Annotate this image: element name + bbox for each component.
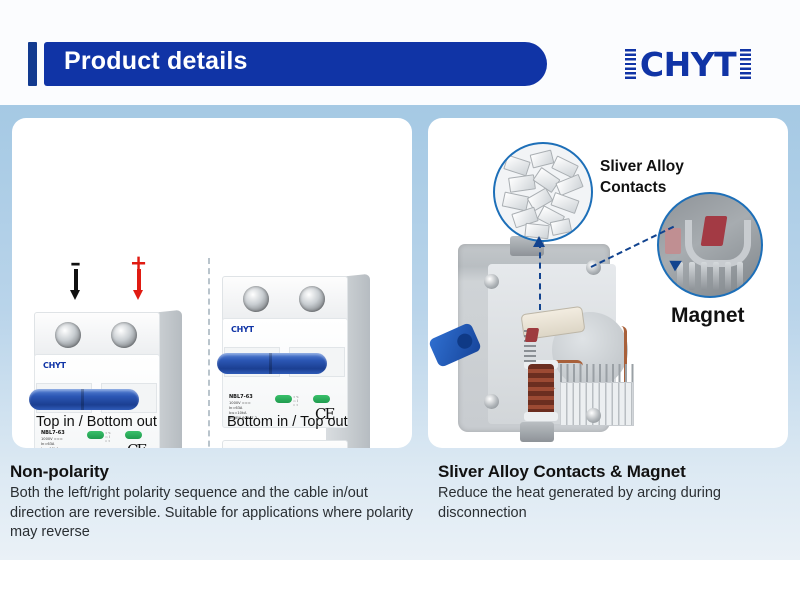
contacts-magnet-panel: Sliver Alloy Contacts Magnet (428, 118, 788, 448)
breaker-schematic-icon: ⌁ ∿⎓ ⌇○ ⌁ (105, 431, 111, 443)
terminal-hole (243, 286, 269, 312)
page-footer-space (0, 560, 800, 591)
breaker-internal-mechanism-image (440, 238, 630, 438)
magnet-label: Magnet (671, 304, 745, 328)
logo-stripe-right-icon (740, 49, 751, 79)
product-details-page: Product details CHYT – + (0, 0, 800, 591)
breaker-toggle-lever[interactable] (29, 389, 139, 410)
breaker-top-terminal (222, 276, 348, 322)
down-arrow-red-icon (133, 269, 144, 299)
brand-logo: CHYT (598, 44, 778, 84)
plus-sign-label: + (130, 258, 148, 269)
leader-line-contacts (539, 242, 541, 310)
non-polarity-caption: Non-polarity Both the left/right polarit… (10, 462, 420, 543)
contacts-magnet-caption-body: Reduce the heat generated by arcing duri… (438, 484, 788, 523)
terminal-hole (55, 322, 81, 348)
breaker-brand-label: CHYT (43, 361, 66, 370)
breaker-indicator-led (313, 395, 330, 403)
contact-pad (525, 328, 539, 342)
contacts-magnet-caption: Sliver Alloy Contacts & Magnet Reduce th… (438, 462, 788, 523)
panel-divider (208, 258, 210, 448)
silver-alloy-contacts-closeup (493, 142, 593, 242)
contacts-label-line-1: Sliver Alloy (600, 156, 684, 177)
down-arrow-black-icon (70, 269, 81, 299)
logo-text: CHYT (640, 48, 736, 81)
non-polarity-panel: – + CHYT (12, 118, 412, 448)
breaker-1-left-polarity: – (44, 258, 107, 299)
leader-arrow-contacts-icon (533, 236, 545, 247)
breaker-indicator-led (87, 431, 104, 439)
breaker-spec-text: 1000V === In=63A Icu=10kA IEC/EN 60947-2 (41, 437, 69, 448)
contacts-label-line-2: Contacts (600, 177, 684, 198)
breaker-indicator-led (125, 431, 142, 439)
breaker-bottom-terminal (222, 440, 348, 448)
breaker-top-terminal (34, 312, 160, 358)
breaker-indicator-led (275, 395, 292, 403)
non-polarity-caption-body: Both the left/right polarity sequence an… (10, 484, 420, 543)
minus-sign-label: – (70, 258, 81, 269)
coil-cap (524, 412, 558, 421)
breaker-2-caption: Bottom in / Top out (227, 414, 348, 430)
logo-stripe-left-icon (625, 49, 636, 79)
non-polarity-caption-title: Non-polarity (10, 462, 420, 482)
housing-rivet (484, 274, 499, 289)
breaker-1-caption: Top in / Bottom out (36, 414, 157, 430)
housing-rivet (484, 394, 499, 409)
breaker-schematic-icon: ⌁ ∿⎓ ⌇○ ⌁ (293, 395, 299, 407)
header-accent-bar (28, 42, 37, 86)
breaker-front-face: CHYT NBL7-63 1000V === In=63A Icu=10kA I… (34, 354, 160, 448)
terminal-hole (299, 286, 325, 312)
ce-mark-icon: CE (127, 441, 145, 448)
breaker-1-right-polarity: + (107, 258, 170, 299)
breaker-front-face: CHYT NBL7-63 1000V === In=63A Icu=10kA I… (222, 318, 348, 428)
terminal-hole (111, 322, 137, 348)
bottom-terminal-block (520, 422, 554, 442)
mechanism-cavity (488, 264, 616, 424)
housing-rivet (586, 408, 601, 423)
page-header: Product details CHYT (0, 0, 800, 105)
mechanism-housing (458, 244, 610, 432)
breaker-1-arrows: – + (44, 258, 170, 299)
magnet-closeup (657, 192, 763, 298)
breaker-toggle-lever[interactable] (217, 353, 327, 374)
solenoid-coil (528, 364, 554, 416)
breaker-brand-label: CHYT (231, 325, 254, 334)
contacts-magnet-caption-title: Sliver Alloy Contacts & Magnet (438, 462, 788, 482)
page-title: Product details (64, 47, 248, 76)
silver-alloy-contacts-label: Sliver Alloy Contacts (600, 156, 684, 198)
